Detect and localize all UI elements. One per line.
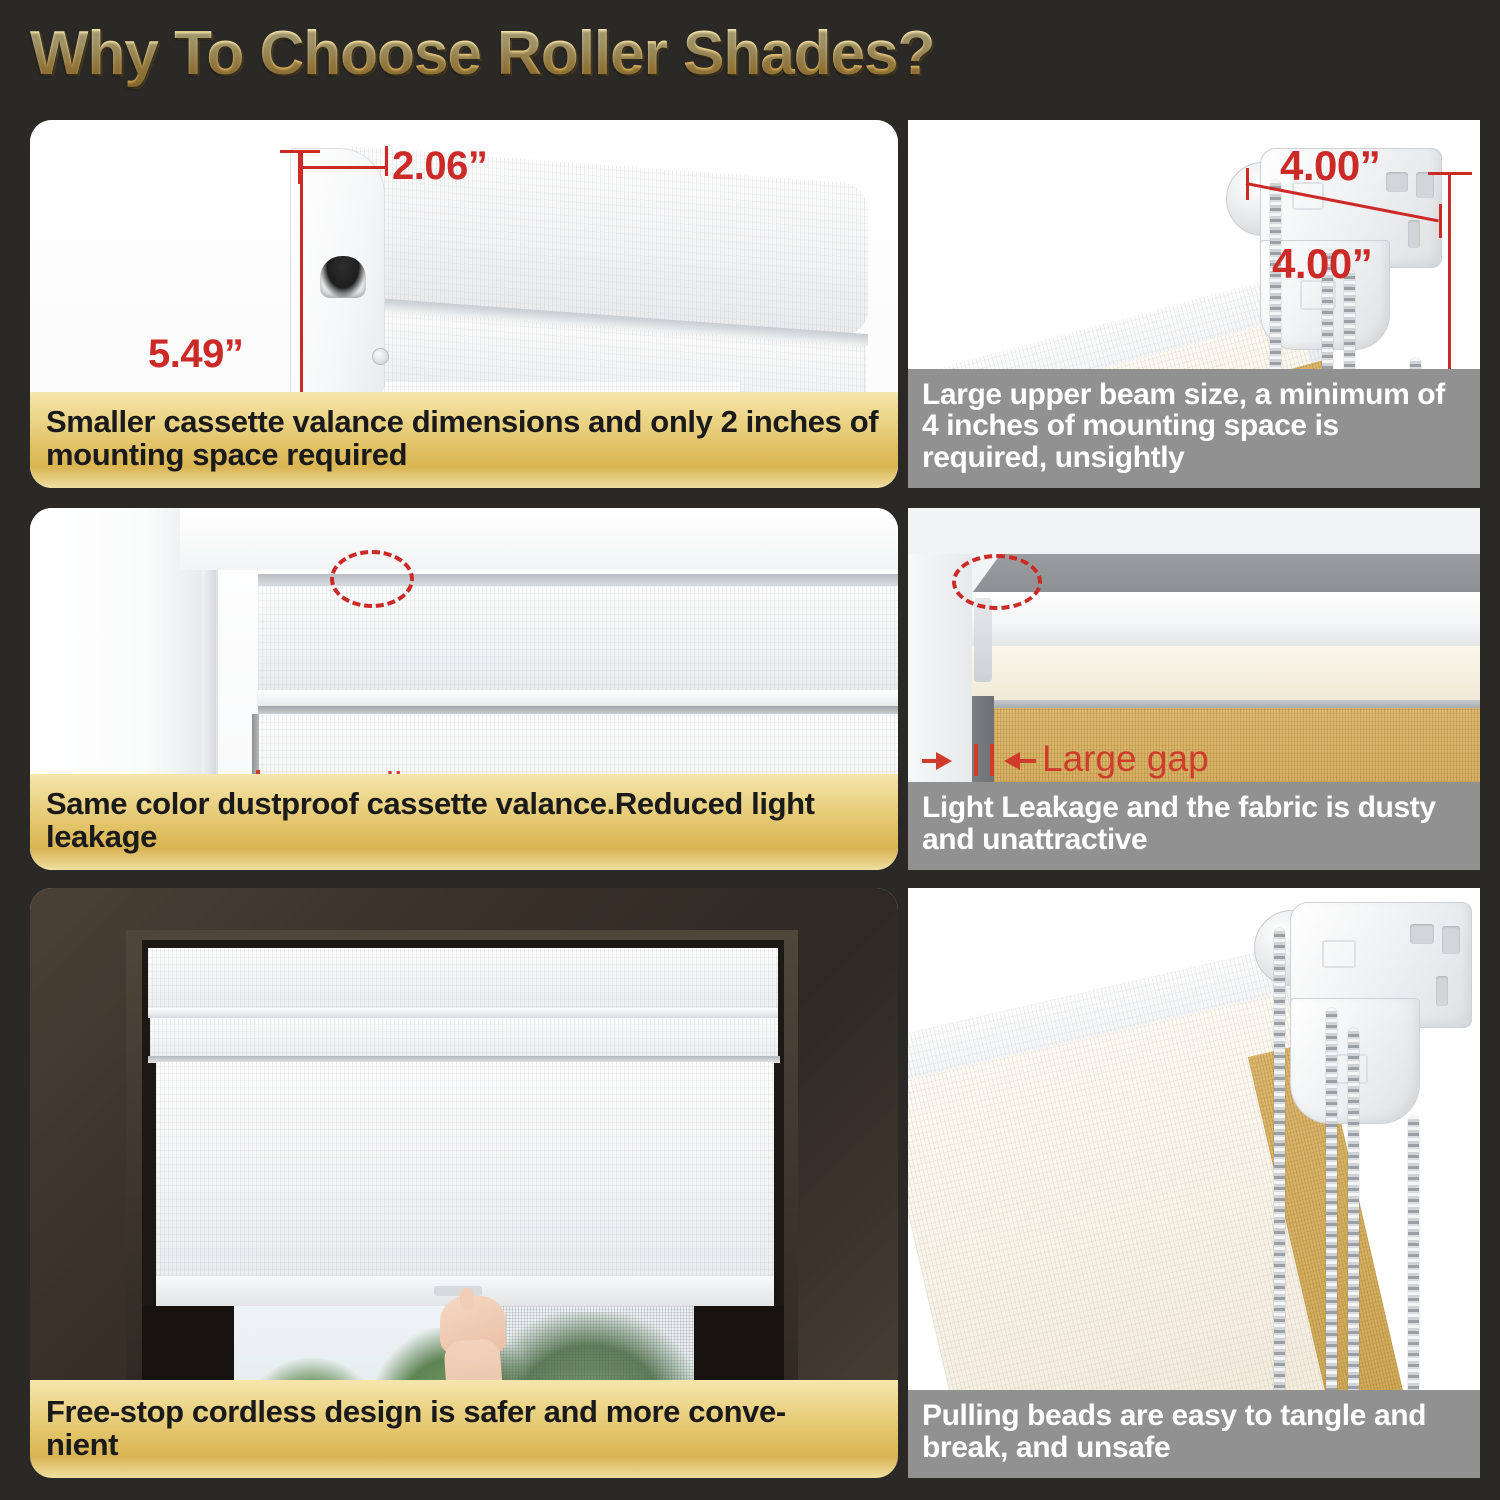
roller-visible-band [150,1018,778,1060]
width-dim-tick-right [385,146,388,176]
panel-large-upper-beam[interactable]: 4.00” 4.00” Large upper beam size, a min… [908,120,1480,488]
panel-smaller-cassette[interactable]: 2.06” 5.49” Smaller cassette valance dim… [30,120,898,488]
panel-2-caption: Large upper beam size, a minimum of 4 in… [908,369,1480,488]
bracket-slot-2 [1416,172,1434,198]
panel-1-caption: Smaller cassette valance dimensions and … [30,392,898,488]
valance-white-band [970,592,1480,650]
headrail-valance [148,948,778,1014]
panel-5-caption-line-1: Free-stop cordless design is safer and m… [46,1396,882,1429]
panel-dustproof-valance[interactable]: smaller gap Same color dustproof cassett… [30,508,898,870]
gap-arrow-right-stem [922,759,940,763]
side-height-tick-top [1428,172,1472,175]
side-height-dim-line [1448,172,1451,372]
gap-arrow-left-stem [1018,759,1036,763]
panel-5-caption-line-2: nient [46,1429,882,1462]
valance-cream-band [970,646,1480,702]
width-dim-line [298,166,388,169]
panel-4-caption: Light Leakage and the fabric is dusty an… [908,782,1480,870]
panel-pulling-beads[interactable]: Pulling beads are easy to tangle and bre… [908,888,1480,1478]
top-width-tick-right [1439,204,1442,238]
large-gap-label: Large gap [1042,738,1209,780]
height-dim-tick-top [280,150,320,153]
valance-under-shadow [970,700,1480,708]
bead-chain-1 [1274,928,1285,1438]
bracket-width-label: 4.00” [1280,142,1380,190]
height-dimension-label: 5.49” [148,332,243,377]
comparison-grid: 2.06” 5.49” Smaller cassette valance dim… [0,0,1500,1500]
headrail-lip [148,1008,778,1018]
window-frame-top [180,508,898,570]
highlight-circle-icon [952,554,1042,610]
panel-5-caption: Free-stop cordless design is safer and m… [30,1380,898,1478]
bracket-slot-2 [1442,926,1460,954]
panel-cordless-design[interactable]: Free-stop cordless design is safer and m… [30,888,898,1478]
bracket-height-label: 4.00” [1272,240,1372,288]
panel-3-caption: Same color dustproof cassette valance.Re… [30,774,898,870]
hand-thumb [460,1288,474,1310]
width-dimension-label: 2.06” [392,144,487,189]
highlight-circle-icon [330,550,414,608]
bead-chain-3 [1348,1028,1359,1438]
valance-end-bracket [974,598,992,682]
wall-top [908,508,1480,554]
panel-6-caption: Pulling beads are easy to tangle and bre… [908,1390,1480,1478]
bracket-slot-3 [1408,220,1420,248]
gap-marker-bar-a [974,744,978,776]
cassette-opening [320,256,366,298]
panel-light-leakage[interactable]: Large gap Light Leakage and the fabric i… [908,508,1480,870]
bracket-slot-1 [1410,924,1434,944]
bracket-slot-3 [1436,976,1448,1006]
valance-top-grey [970,554,1480,596]
bracket-slot-1 [1386,172,1408,192]
gap-marker-bar-b [990,744,994,776]
top-width-tick-left [1246,168,1249,200]
valance-bottom-lip [258,690,898,706]
bracket-emboss-1 [1322,940,1356,968]
shade-fabric-main [156,1062,774,1284]
bead-chain-2 [1326,1008,1337,1438]
bottom-rail-handle [434,1286,482,1296]
screw-icon [372,348,389,365]
